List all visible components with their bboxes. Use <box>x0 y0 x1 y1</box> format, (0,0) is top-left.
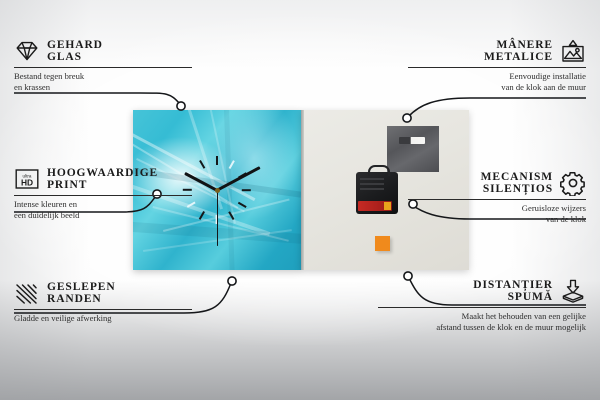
feature-subtitle-line1: Bestand tegen breuk <box>14 71 194 82</box>
feature-title-line2: SILENȚIOS <box>483 183 553 195</box>
feature-subtitle-line1: Maakt het behouden van een gelijke <box>376 311 586 322</box>
feature-divider <box>14 309 192 310</box>
leader-dot-manere <box>403 114 411 122</box>
feature-subtitle-line2: een duidelijk beeld <box>14 210 194 221</box>
feature-mecanism-silentios: MECANISM SILENȚIOS Geruisloze wijzers va… <box>406 170 586 226</box>
feature-subtitle-line2: van de klok aan de muur <box>406 82 586 93</box>
foam-spacer-icon <box>560 278 586 304</box>
feature-subtitle-line1: Eenvoudige installatie <box>406 71 586 82</box>
picture-hanger-icon <box>560 38 586 64</box>
feature-divider <box>14 195 192 196</box>
feature-title-line1: HOOGWAARDIGE <box>47 167 158 179</box>
feature-title-line1: MECANISM <box>481 171 553 183</box>
feature-manere-metalice: MÂNERE METALICE Eenvoudige installatie v… <box>406 38 586 94</box>
feature-title-line1: GESLEPEN <box>47 281 116 293</box>
feature-title-line2: METALICE <box>484 51 553 63</box>
leader-dot-gehard-glas <box>177 102 185 110</box>
feature-geslepen-randen: GESLEPEN RANDEN Gladde en veilige afwerk… <box>14 280 194 324</box>
leader-line-manere <box>408 98 586 117</box>
feature-subtitle-line1: Gladde en veilige afwerking <box>14 313 194 324</box>
feature-divider <box>408 199 586 200</box>
feature-divider <box>378 307 586 308</box>
feature-hoogwaardige-print: ultra HD HOOGWAARDIGE PRINT Intense kleu… <box>14 166 194 222</box>
gear-icon <box>560 170 586 196</box>
feature-gehard-glas: GEHARD GLAS Bestand tegen breuk en krass… <box>14 38 194 94</box>
feature-title-line2: PRINT <box>47 179 158 191</box>
feature-subtitle-line1: Intense kleuren en <box>14 199 194 210</box>
svg-text:HD: HD <box>21 177 33 187</box>
feature-subtitle-line2: afstand tussen de klok en de muur mogeli… <box>376 322 586 333</box>
feature-title-line2: GLAS <box>47 51 103 63</box>
feature-title-line1: DISTANȚIER <box>473 279 553 291</box>
feature-divider <box>14 67 192 68</box>
ultra-hd-icon: ultra HD <box>14 166 40 192</box>
feature-subtitle-line2: van de klok <box>406 214 586 225</box>
infographic-canvas: GEHARD GLAS Bestand tegen breuk en krass… <box>0 0 600 400</box>
feature-distantier-spuma: DISTANȚIER SPUMĂ Maakt het behouden van … <box>376 278 586 334</box>
feature-subtitle-line2: en krassen <box>14 82 194 93</box>
feature-title-line2: RANDEN <box>47 293 116 305</box>
leader-line-gehard-glas <box>14 93 180 104</box>
feature-title-line1: GEHARD <box>47 39 103 51</box>
beveled-edge-icon <box>14 280 40 306</box>
diamond-icon <box>14 38 40 64</box>
feature-title-line1: MÂNERE <box>496 39 553 51</box>
feature-divider <box>408 67 586 68</box>
leader-dot-randen <box>228 277 236 285</box>
feature-subtitle-line1: Geruisloze wijzers <box>406 203 586 214</box>
feature-title-line2: SPUMĂ <box>508 291 553 303</box>
